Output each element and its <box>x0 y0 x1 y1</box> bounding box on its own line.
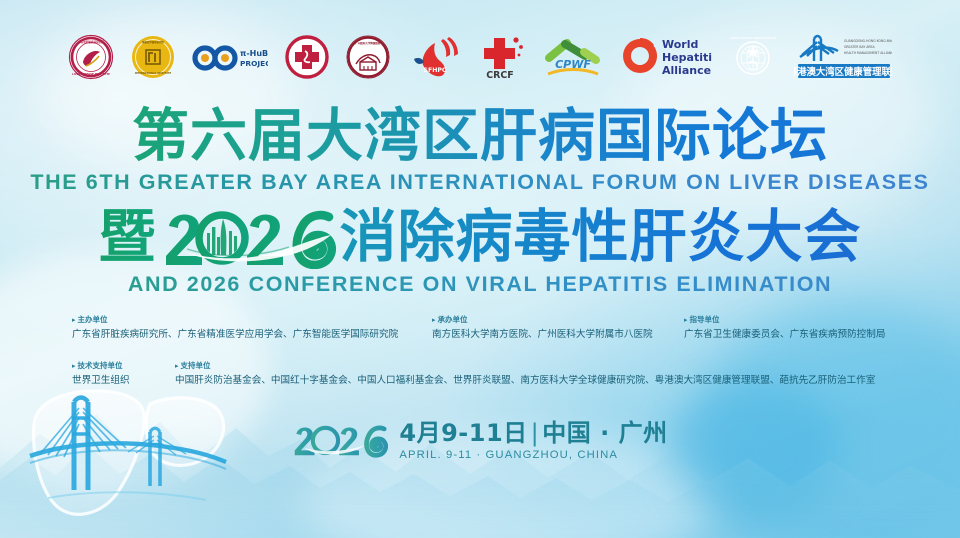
org-guidance: ▸指导单位 广东省卫生健康委员会、广东省疾病预防控制局 <box>684 314 885 342</box>
pi-hub-project-logo[interactable]: π-HuB PROJECT <box>192 37 268 77</box>
event-year-emblem <box>292 418 388 464</box>
bullet-triangle-icon: ▸ <box>72 362 76 370</box>
event-date-english: APRIL. 9-11 · GUANGZHOU, CHINA <box>399 448 667 463</box>
svg-text:SFHPC: SFHPC <box>424 67 447 74</box>
who-logo[interactable]: WORLD HEALTH ORGANIZATION <box>729 33 777 81</box>
bullet-triangle-icon: ▸ <box>684 316 688 324</box>
conference-poster: 广东省肝脏疾病研究所 LIVER DISEASE INSTITUTE 智能医学国… <box>0 0 960 538</box>
org-technical-support: ▸技术支持单位 世界卫生组织 <box>72 360 175 388</box>
event-date-cn-value: 4月9-11日 <box>399 419 527 447</box>
org-host: ▸主办单位 广东省肝脏疾病研究所、广东省精准医学应用学会、广东智能医学国际研究院 <box>72 314 432 342</box>
org-guidance-label: ▸指导单位 <box>684 314 885 326</box>
secondary-title-english: AND 2026 CONFERENCE ON VIRAL HEPATITIS E… <box>0 272 960 297</box>
svg-text:WORLD HEALTH ORGANIZATION: WORLD HEALTH ORGANIZATION <box>730 36 776 40</box>
org-support: ▸支持单位 中国肝炎防治基金会、中国红十字基金会、中国人口福利基金会、世界肝炎联… <box>175 360 875 388</box>
secondary-title-prefix: 暨 <box>99 205 157 269</box>
organizations-row-1: ▸主办单位 广东省肝脏疾病研究所、广东省精准医学应用学会、广东智能医学国际研究院… <box>72 314 952 342</box>
svg-text:GREATER BAY AREA: GREATER BAY AREA <box>844 45 875 49</box>
red-cross-medical-logo[interactable] <box>285 35 329 79</box>
event-location-cn: 中国 · 广州 <box>542 419 667 447</box>
org-host-label: ▸主办单位 <box>72 314 432 326</box>
world-hepatitis-alliance-logo[interactable]: World Hepatitis Alliance <box>620 33 712 81</box>
org-organizer-label: ▸承办单位 <box>432 314 684 326</box>
org-support-label: ▸支持单位 <box>175 360 875 372</box>
svg-text:广州医科大学附属医院: 广州医科大学附属医院 <box>355 41 381 45</box>
guangdong-liver-research-institute-logo[interactable]: 广东省肝脏疾病研究所 LIVER DISEASE INSTITUTE <box>68 34 114 80</box>
year-emblem-2026 <box>161 209 336 269</box>
svg-text:粤港澳大湾区健康管理联盟: 粤港澳大湾区健康管理联盟 <box>794 66 892 78</box>
svg-text:Hepatitis: Hepatitis <box>662 51 712 64</box>
cpwf-logo[interactable]: CPWF <box>543 34 603 80</box>
university-crest-logo[interactable]: 广州医科大学附属医院 <box>346 35 390 79</box>
svg-text:CRCF: CRCF <box>486 70 513 80</box>
org-host-names: 广东省肝脏疾病研究所、广东省精准医学应用学会、广东智能医学国际研究院 <box>72 327 432 342</box>
svg-text:GUANGDONG-HONG KONG-MACAO: GUANGDONG-HONG KONG-MACAO <box>844 39 892 43</box>
svg-text:HEALTH MANAGEMENT ALLIANCE: HEALTH MANAGEMENT ALLIANCE <box>844 51 892 55</box>
water-reflection <box>48 492 206 500</box>
organizations-row-2: ▸技术支持单位 世界卫生组织 ▸支持单位 中国肝炎防治基金会、中国红十字基金会、… <box>72 360 952 388</box>
svg-text:CPWF: CPWF <box>555 58 591 71</box>
svg-text:Alliance: Alliance <box>662 64 711 77</box>
org-technical-support-names: 世界卫生组织 <box>72 373 175 388</box>
event-date-text: 4月9-11日|中国 · 广州 APRIL. 9-11 · GUANGZHOU,… <box>399 419 667 463</box>
bullet-triangle-icon: ▸ <box>72 316 76 324</box>
svg-text:PROJECT: PROJECT <box>240 59 268 68</box>
event-date-separator: | <box>531 419 540 447</box>
bullet-triangle-icon: ▸ <box>432 316 436 324</box>
org-guidance-names: 广东省卫生健康委员会、广东省疾病预防控制局 <box>684 327 885 342</box>
org-organizer: ▸承办单位 南方医科大学南方医院、广州医科大学附属市八医院 <box>432 314 684 342</box>
svg-text:广东省肝脏疾病研究所: 广东省肝脏疾病研究所 <box>78 40 104 44</box>
svg-text:LIVER DISEASE INSTITUTE: LIVER DISEASE INSTITUTE <box>72 72 110 76</box>
main-title-chinese: 第六届大湾区肝病国际论坛 <box>0 104 960 168</box>
event-date-chinese: 4月9-11日|中国 · 广州 <box>399 419 667 447</box>
org-organizer-names: 南方医科大学南方医院、广州医科大学附属市八医院 <box>432 327 684 342</box>
svg-text:π-HuB: π-HuB <box>240 49 268 58</box>
main-title-english: THE 6TH GREATER BAY AREA INTERNATIONAL F… <box>0 170 960 195</box>
crcf-logo[interactable]: CRCF <box>476 34 526 80</box>
gold-institute-seal-logo[interactable]: 智能医学国际研究院 INTERNATIONAL INSTITUTE <box>131 35 175 79</box>
organizations-block: ▸主办单位 广东省肝脏疾病研究所、广东省精准医学应用学会、广东智能医学国际研究院… <box>72 314 952 388</box>
bullet-triangle-icon: ▸ <box>175 362 179 370</box>
org-technical-support-label: ▸技术支持单位 <box>72 360 175 372</box>
sponsor-logo-bar: 广东省肝脏疾病研究所 LIVER DISEASE INSTITUTE 智能医学国… <box>0 26 960 88</box>
svg-text:World: World <box>662 38 698 51</box>
title-block: 第六届大湾区肝病国际论坛 THE 6TH GREATER BAY AREA IN… <box>0 104 960 297</box>
svg-text:智能医学国际研究院: 智能医学国际研究院 <box>142 40 164 44</box>
org-support-names: 中国肝炎防治基金会、中国红十字基金会、中国人口福利基金会、世界肝炎联盟、南方医科… <box>175 373 875 388</box>
sfhpc-hand-logo[interactable]: SFHPC <box>407 35 459 79</box>
svg-text:INTERNATIONAL INSTITUTE: INTERNATIONAL INSTITUTE <box>135 72 172 75</box>
secondary-title-suffix: 消除病毒性肝炎大会 <box>340 205 862 269</box>
gba-health-management-alliance-logo[interactable]: GUANGDONG-HONG KONG-MACAO GREATER BAY AR… <box>794 31 892 83</box>
event-date-bar: 4月9-11日|中国 · 广州 APRIL. 9-11 · GUANGZHOU,… <box>0 418 960 464</box>
secondary-title-chinese: 暨 <box>0 205 960 269</box>
